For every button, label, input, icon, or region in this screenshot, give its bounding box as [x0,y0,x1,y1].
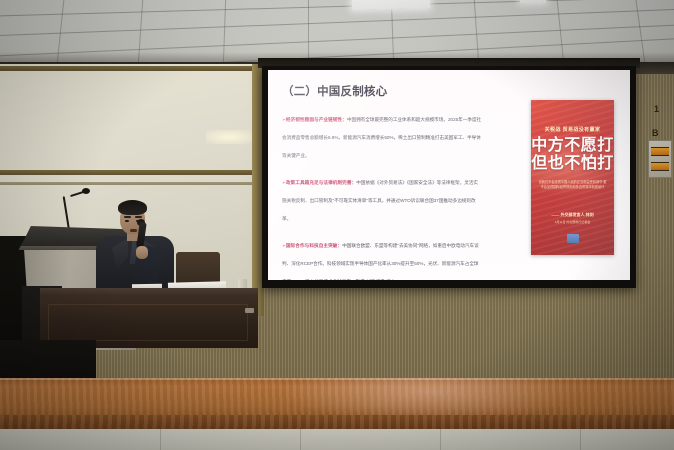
projection-screen: （二）中国反制核心 ➢经济韧性稳固与产业链韧性：中国拥有全球最完整的工业体系和超… [268,70,630,280]
tile-floor [0,429,674,450]
poster-headline-1: 中方不愿打 [531,138,614,154]
poster-top-line: 关税战 贸易战没有赢家 [531,126,614,133]
speaker-eyebrow-left [124,216,131,218]
bullet-block: ➢经济韧性稳固与产业链韧性：中国拥有全球最完整的工业体系和超大规模市场。2025… [282,108,482,162]
bullet-heading: 国际合作与科技自主突破： [286,243,342,248]
bullet-heading: 政策工具箱充足与法律机制完善： [286,180,356,185]
ceiling-light-panel [520,0,546,3]
bullet-body: 中国联合欧盟、东盟等构建"去美协同"网络，如重启中欧电动汽车谈判、深化RCEP合… [282,243,479,280]
wall-notice-board [648,140,672,178]
wall-sign-letter: B [652,128,659,138]
bullet-heading: 经济韧性稳固与产业链韧性： [286,117,347,122]
poster-subtext: 但我们不会坐视中国人民的正当权益受到剥夺 更不会坐视国际经贸规则和多边贸易体制被… [538,180,607,191]
speaker-eye-left [125,220,129,222]
bullet-block: ➢政策工具箱充足与法律机制完善：中国依据《对外贸易法》《国家安全法》等法律框架，… [282,171,482,225]
bullet-body: 中国依据《对外贸易法》《国家安全法》等法律框架，灵活实施关税反制、出口管制及"不… [282,180,478,221]
table-label-tag [245,308,254,313]
speaker-hand [136,246,148,259]
slide-bullet-list: ➢经济韧性稳固与产业链韧性：中国拥有全球最完整的工业体系和超大规模市场。2025… [282,108,482,280]
poster-headline-2: 但也不怕打 [531,156,614,172]
slide-poster-image: 关税战 贸易战没有赢家 中方不愿打 但也不怕打 但我们不会坐视中国人民的正当权益… [531,100,614,255]
bullet-body: 中国拥有全球最完整的工业体系和超大规模市场。2025年一季度社会消费品零售总额增… [282,117,481,158]
speaker-mouth [130,229,137,232]
bullet-block: ➢国际合作与科技自主突破：中国联合欧盟、东盟等构建"去美协同"网络，如重启中欧电… [282,234,482,280]
wall-sign-character: 1 [654,104,659,114]
poster-attribution: —— 外交部发言人 林剑 [531,212,614,218]
speaker-eyebrow-right [135,216,142,218]
speaker-hair [118,200,147,215]
screenshot-root: 1 B （二）中国反制核心 ➢经济韧性稳固与产业链韧性：中国拥有全球最完整的工业… [0,0,674,450]
ceiling-light-panel [352,0,430,10]
slide-title: （二）中国反制核心 [282,83,387,99]
poster-attribution-note: 4月11日 外交部例行记者会 [531,220,614,224]
stage-riser-edge [0,415,674,429]
presentation-slide: （二）中国反制核心 ➢经济韧性稳固与产业链韧性：中国拥有全球最完整的工业体系和超… [268,70,630,280]
poster-logo-icon [567,234,579,243]
podium-microphone-icon [82,188,90,194]
